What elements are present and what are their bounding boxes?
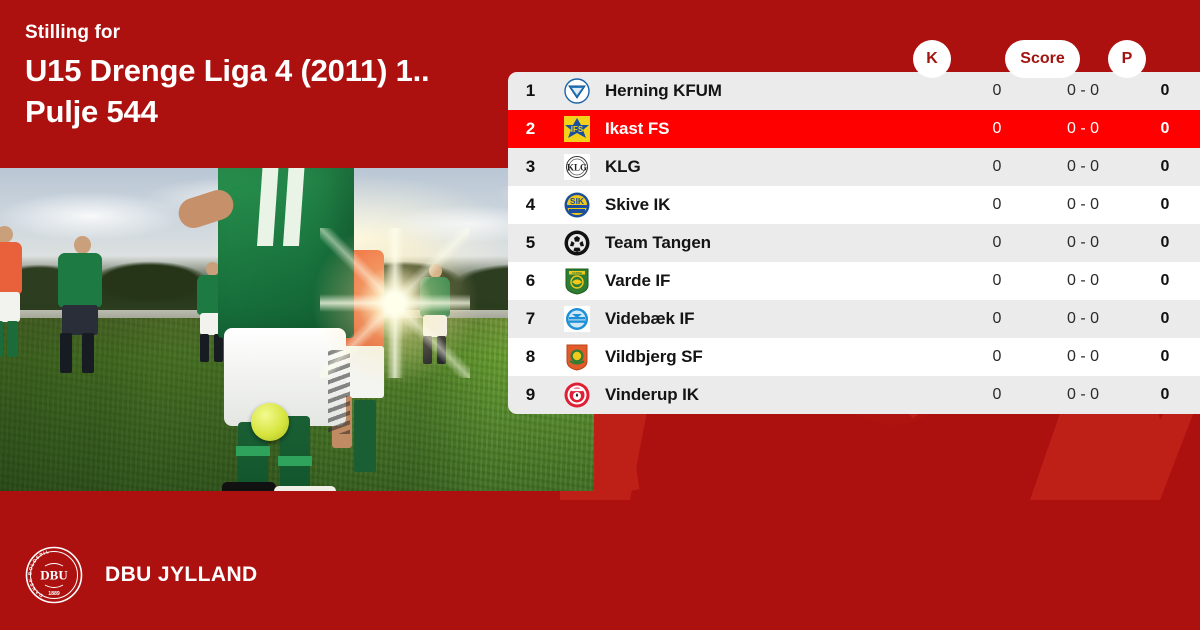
videbaek-if-logo	[553, 306, 601, 332]
row-points: 0	[1133, 348, 1197, 366]
row-points: 0	[1133, 234, 1197, 252]
row-k: 0	[961, 310, 1033, 328]
row-k: 0	[961, 348, 1033, 366]
row-score: 0 - 0	[1033, 310, 1133, 328]
row-k: 0	[961, 386, 1033, 404]
row-score: 0 - 0	[1033, 82, 1133, 100]
row-k: 0	[961, 272, 1033, 290]
row-k: 0	[961, 82, 1033, 100]
table-row[interactable]: 7 Videbæk IF 0 0 - 0 0	[508, 300, 1200, 338]
row-k: 0	[961, 120, 1033, 138]
row-score: 0 - 0	[1033, 386, 1133, 404]
table-row[interactable]: 5 Team Tangen 0 0 - 0 0	[508, 224, 1200, 262]
table-row[interactable]: 8 Vildbjerg SF 0 0 - 0 0	[508, 338, 1200, 376]
photo-sun-rays	[320, 228, 470, 378]
page-title: U15 Drenge Liga 4 (2011) 1.. Pulje 544	[25, 50, 585, 132]
row-team-name: Ikast FS	[601, 119, 961, 139]
row-score: 0 - 0	[1033, 158, 1133, 176]
organization-name: DBU JYLLAND	[105, 563, 258, 587]
row-team-name: Vildbjerg SF	[601, 347, 961, 367]
row-score: 0 - 0	[1033, 234, 1133, 252]
row-k: 0	[961, 196, 1033, 214]
row-points: 0	[1133, 82, 1197, 100]
row-k: 0	[961, 234, 1033, 252]
photo-player-background-2	[52, 236, 112, 366]
row-points: 0	[1133, 272, 1197, 290]
svg-text:DBU: DBU	[40, 568, 68, 583]
ikast-fs-logo: IFS	[553, 116, 601, 142]
svg-text:IFS: IFS	[571, 125, 584, 134]
row-rank: 6	[508, 271, 553, 291]
photo-player-background-1	[0, 226, 40, 356]
header-kicker: Stilling for	[25, 22, 120, 44]
row-points: 0	[1133, 196, 1197, 214]
page-title-line2: Pulje 544	[25, 91, 585, 132]
row-rank: 5	[508, 233, 553, 253]
row-team-name: KLG	[601, 157, 961, 177]
row-team-name: Team Tangen	[601, 233, 961, 253]
row-rank: 9	[508, 385, 553, 405]
varde-if-logo: VARDE	[553, 268, 601, 295]
row-rank: 7	[508, 309, 553, 329]
footer: DANSK BOLDSPIL UNION DBU 1889 DBU JYLLAN…	[0, 520, 600, 630]
team-tangen-logo	[553, 230, 601, 256]
row-points: 0	[1133, 386, 1197, 404]
row-k: 0	[961, 158, 1033, 176]
football-match-photo	[0, 168, 594, 491]
row-team-name: Skive IK	[601, 195, 961, 215]
row-points: 0	[1133, 310, 1197, 328]
row-team-name: Videbæk IF	[601, 309, 961, 329]
table-row[interactable]: 2 IFS Ikast FS 0 0 - 0 0	[508, 110, 1200, 148]
row-rank: 4	[508, 195, 553, 215]
row-rank: 3	[508, 157, 553, 177]
row-score: 0 - 0	[1033, 196, 1133, 214]
svg-text:SIK: SIK	[570, 196, 585, 206]
standings-table: 1 Herning KFUM 0 0 - 0 0 2 IFS Ikast FS …	[508, 72, 1200, 414]
column-header-k: K	[913, 40, 951, 78]
row-score: 0 - 0	[1033, 348, 1133, 366]
vinderup-ik-logo	[553, 382, 601, 408]
row-points: 0	[1133, 158, 1197, 176]
row-score: 0 - 0	[1033, 120, 1133, 138]
column-header-p: P	[1108, 40, 1146, 78]
klg-logo: KLG	[553, 154, 601, 180]
table-row[interactable]: 4 SIK Skive IK 0 0 - 0 0	[508, 186, 1200, 224]
column-header-score: Score	[1005, 40, 1080, 78]
svg-text:VARDE: VARDE	[572, 271, 582, 275]
table-row[interactable]: 6 VARDE Varde IF 0 0 - 0 0	[508, 262, 1200, 300]
svg-text:1889: 1889	[48, 591, 60, 597]
row-rank: 1	[508, 81, 553, 101]
svg-text:KLG: KLG	[567, 163, 587, 173]
page-title-line1: U15 Drenge Liga 4 (2011) 1..	[25, 50, 585, 91]
table-column-headers: K Score P	[508, 40, 1200, 78]
row-team-name: Vinderup IK	[601, 385, 961, 405]
table-row[interactable]: 9 Vinderup IK 0 0 - 0 0	[508, 376, 1200, 414]
row-team-name: Herning KFUM	[601, 81, 961, 101]
skive-ik-logo: SIK	[553, 192, 601, 218]
row-score: 0 - 0	[1033, 272, 1133, 290]
row-rank: 2	[508, 119, 553, 139]
dbu-emblem-icon: DANSK BOLDSPIL UNION DBU 1889	[25, 546, 83, 604]
vildbjerg-sf-logo	[553, 344, 601, 371]
row-rank: 8	[508, 347, 553, 367]
herning-kfum-logo	[553, 78, 601, 104]
row-points: 0	[1133, 120, 1197, 138]
photo-football	[251, 403, 289, 441]
table-row[interactable]: 3 KLG KLG 0 0 - 0 0	[508, 148, 1200, 186]
row-team-name: Varde IF	[601, 271, 961, 291]
standings-graphic: Stilling for U15 Drenge Liga 4 (2011) 1.…	[0, 0, 1200, 630]
